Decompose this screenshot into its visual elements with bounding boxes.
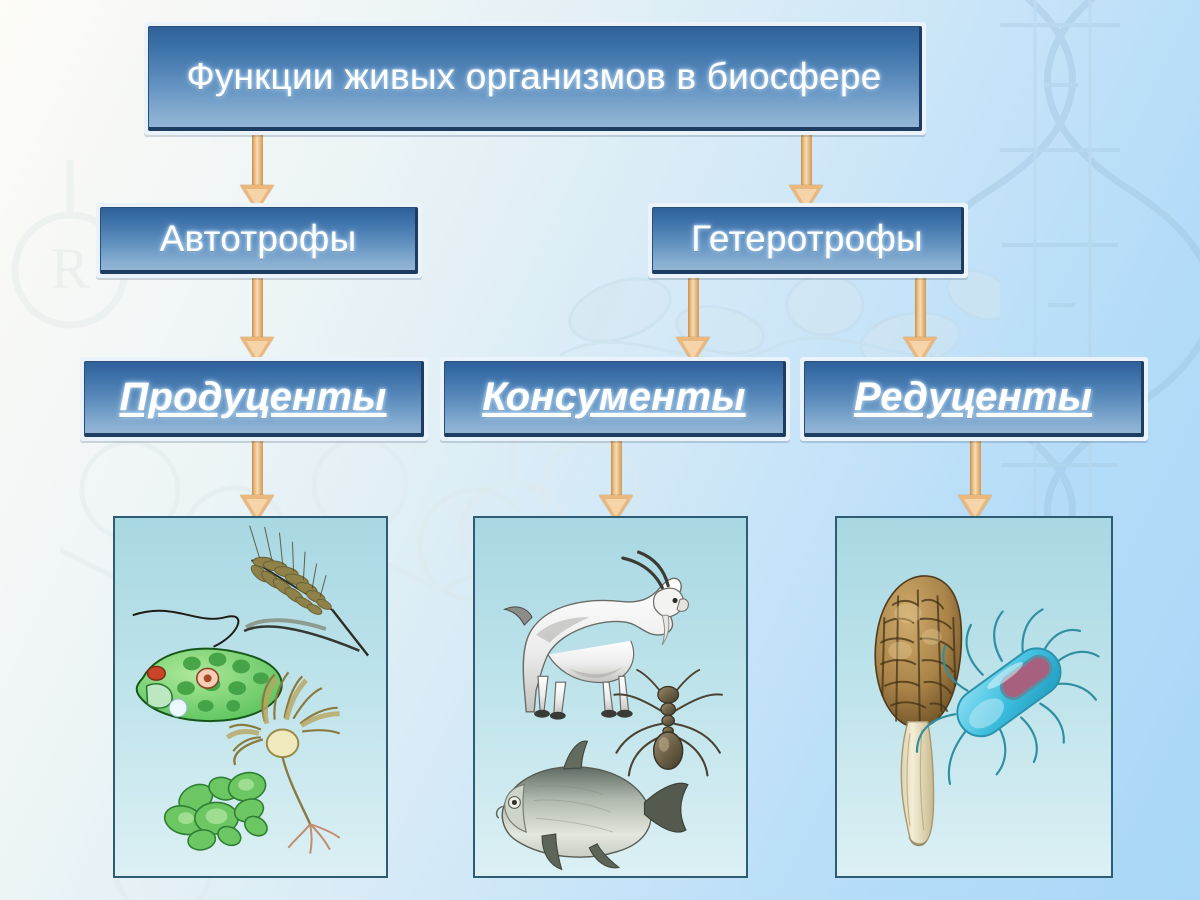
arrow-producers-to-panel	[237, 440, 277, 522]
node-title-label: Функции живых организмов в биосфере	[187, 56, 882, 98]
arrow-title-to-heterotrophs	[786, 130, 826, 212]
panel-consumers[interactable]	[473, 516, 748, 878]
node-consumers-label: Консументы	[482, 375, 745, 420]
node-decomposers-label: Редуценты	[854, 375, 1092, 420]
arrow-title-to-autotrophs	[237, 130, 277, 212]
svg-text:R: R	[51, 236, 90, 301]
arrow-consumers-to-panel	[596, 440, 636, 522]
arrow-autotrophs-to-producers	[237, 278, 277, 364]
panel-producers[interactable]	[113, 516, 388, 878]
node-autotrophs[interactable]: Автотрофы	[96, 203, 422, 278]
node-decomposers[interactable]: Редуценты	[800, 357, 1148, 441]
node-heterotrophs[interactable]: Гетеротрофы	[648, 203, 968, 278]
node-consumers[interactable]: Консументы	[440, 357, 790, 441]
arrow-heterotrophs-to-consumers	[673, 278, 713, 364]
node-producers-label: Продуценты	[119, 375, 386, 420]
dna-helix-watermark	[930, 0, 1200, 520]
arrow-heterotrophs-to-decomposers	[900, 278, 940, 364]
node-title[interactable]: Функции живых организмов в биосфере	[144, 22, 926, 135]
panel-decomposers[interactable]	[835, 516, 1113, 878]
slide-canvas: R R	[0, 0, 1200, 900]
arrow-decomposers-to-panel	[955, 440, 995, 522]
node-producers[interactable]: Продуценты	[80, 357, 428, 441]
node-heterotrophs-label: Гетеротрофы	[691, 218, 923, 260]
node-autotrophs-label: Автотрофы	[160, 218, 357, 260]
